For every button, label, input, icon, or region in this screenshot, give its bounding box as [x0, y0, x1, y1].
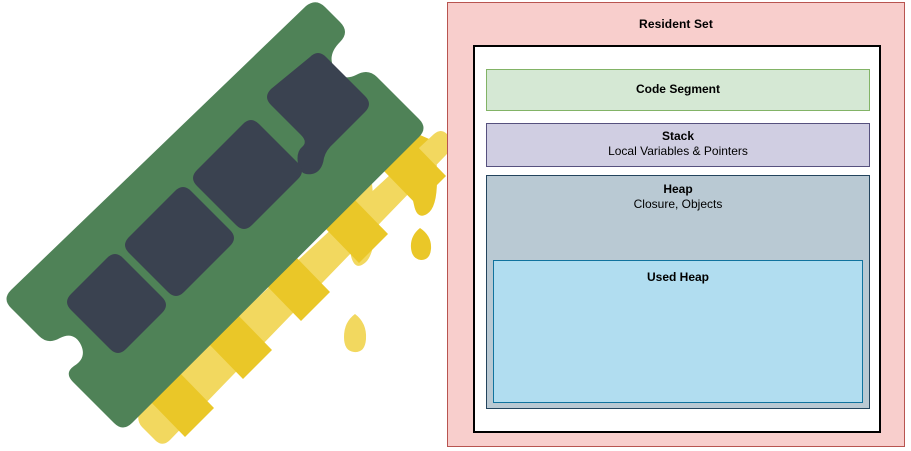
used-heap-segment-title: Used Heap: [494, 270, 862, 285]
code-segment-title: Code Segment: [487, 82, 869, 97]
memory-container-box: Code Segment Stack Local Variables & Poi…: [473, 45, 881, 433]
stack-segment-box[interactable]: Stack Local Variables & Pointers: [486, 123, 870, 167]
page-root: Resident Set Code Segment Stack Local Va…: [0, 0, 911, 451]
stack-segment-title: Stack: [487, 129, 869, 144]
resident-set-panel: Resident Set Code Segment Stack Local Va…: [447, 2, 905, 447]
melting-ram-stick-illustration: [0, 0, 450, 451]
ram-stick-icon: [0, 0, 450, 451]
used-heap-segment-box[interactable]: Used Heap: [493, 260, 863, 403]
code-segment-box[interactable]: Code Segment: [486, 69, 870, 111]
stack-segment-subtitle: Local Variables & Pointers: [487, 144, 869, 159]
heap-segment-subtitle: Closure, Objects: [487, 197, 869, 212]
heap-segment-title: Heap: [487, 182, 869, 197]
resident-set-title: Resident Set: [448, 17, 904, 31]
heap-segment-box[interactable]: Heap Closure, Objects Used Heap: [486, 175, 870, 409]
